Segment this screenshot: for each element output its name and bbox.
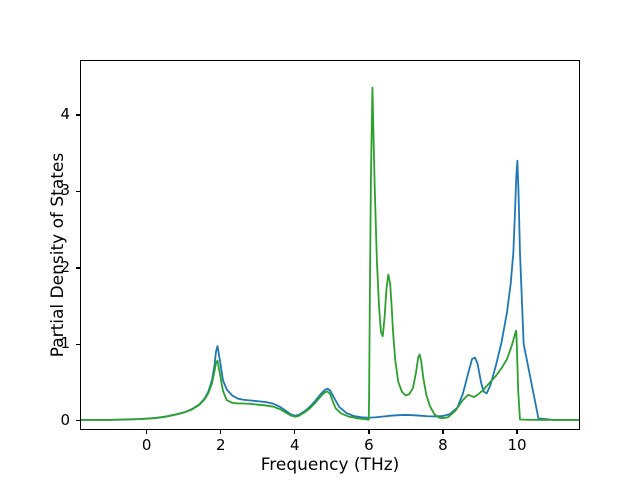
- line-series-blue: [81, 161, 579, 420]
- line-series-green: [81, 88, 579, 420]
- x-axis-label: Frequency (THz): [80, 455, 580, 475]
- y-tick-1: [76, 344, 80, 345]
- x-tick-label-2: 2: [191, 436, 251, 454]
- y-tick-label-2: 2: [16, 258, 70, 276]
- y-tick-label-3: 3: [16, 181, 70, 199]
- y-tick-label-1: 1: [16, 334, 70, 352]
- plot-lines-svg: [81, 61, 579, 429]
- x-tick-label-0: 0: [117, 436, 177, 454]
- x-tick-6: [368, 430, 369, 434]
- x-tick-0: [146, 430, 147, 434]
- x-tick-10: [516, 430, 517, 434]
- y-tick-2: [76, 267, 80, 268]
- y-tick-label-0: 0: [16, 411, 70, 429]
- x-tick-label-10: 10: [487, 436, 547, 454]
- x-tick-4: [294, 430, 295, 434]
- x-tick-label-6: 6: [339, 436, 399, 454]
- chart-figure: Frequency (THz) Partial Density of State…: [0, 0, 640, 480]
- plot-axes: [80, 60, 580, 430]
- y-tick-label-4: 4: [16, 105, 70, 123]
- x-tick-8: [442, 430, 443, 434]
- y-tick-4: [76, 114, 80, 115]
- x-tick-label-8: 8: [413, 436, 473, 454]
- x-tick-label-4: 4: [265, 436, 325, 454]
- x-tick-2: [220, 430, 221, 434]
- y-tick-0: [76, 420, 80, 421]
- y-tick-3: [76, 191, 80, 192]
